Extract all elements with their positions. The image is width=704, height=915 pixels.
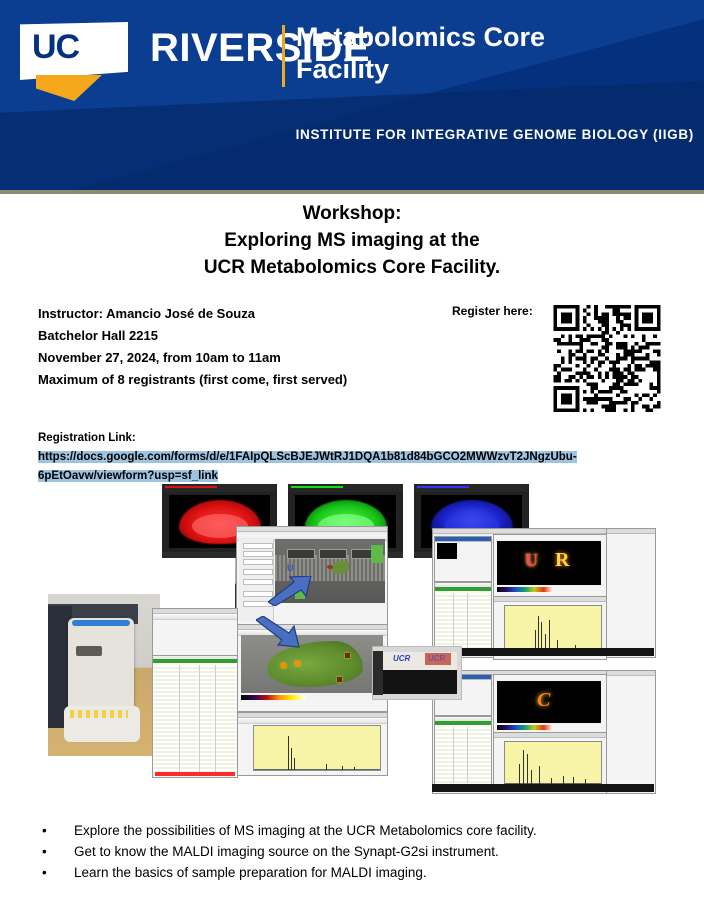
- registration-link-url[interactable]: https://docs.google.com/forms/d/e/1FAIpQ…: [38, 451, 577, 482]
- file-list-panel-top: [434, 536, 492, 582]
- list-item: • Learn the basics of sample preparation…: [36, 862, 676, 883]
- leaf-spectrum-window: [236, 712, 388, 776]
- bullet-text: Explore the possibilities of MS imaging …: [74, 820, 537, 841]
- location-line: Batchelor Hall 2215: [38, 325, 347, 347]
- taskbar-bottom: [432, 784, 654, 792]
- tool-panel-bottom: [606, 670, 656, 794]
- core-facility-name: Metabolomics Core Facility: [296, 21, 626, 85]
- datetime-line: November 27, 2024, from 10am to 11am: [38, 347, 347, 369]
- ucr-sample-plate-photo: UCR UCR: [372, 646, 462, 700]
- project-browser-window: [152, 608, 238, 656]
- header-divider: [282, 25, 285, 87]
- workshop-details: Instructor: Amancio José de Souza Batche…: [38, 303, 347, 391]
- qr-code-svg: [551, 305, 663, 412]
- peak-list-table-top: [434, 582, 492, 654]
- instructor-line: Instructor: Amancio José de Souza: [38, 303, 347, 325]
- uc-logo: UC: [20, 22, 140, 100]
- list-item: • Get to know the MALDI imaging source o…: [36, 841, 676, 862]
- arrow-down-right: [256, 616, 300, 648]
- ion-image-u-r-window: U R: [493, 534, 607, 598]
- maldi-plate-camera-window: U: [236, 526, 388, 626]
- bullet-marker-icon: •: [36, 841, 74, 862]
- title-line-2: Exploring MS imaging at the: [0, 227, 704, 254]
- tool-panel-top: [606, 528, 656, 658]
- arrow-up-right: [268, 576, 312, 606]
- bullet-text: Learn the basics of sample preparation f…: [74, 862, 427, 883]
- ion-image-c-window: C: [493, 674, 607, 734]
- ucr-plate-matrix-patch: UCR: [425, 653, 451, 665]
- capacity-line: Maximum of 8 registrants (first come, fi…: [38, 369, 347, 391]
- header-underline: [0, 190, 704, 194]
- page-title: Workshop: Exploring MS imaging at the UC…: [0, 200, 704, 281]
- ucr-plate-label: UCR: [393, 654, 410, 663]
- page-header: UC RIVERSIDE Metabolomics Core Facility …: [0, 0, 704, 190]
- bullet-marker-icon: •: [36, 820, 74, 841]
- registration-link-label: Registration Link:: [38, 432, 136, 444]
- uc-logo-text: UC: [32, 30, 79, 64]
- maldi-instrument-photo: [48, 594, 160, 756]
- taskbar-top: [432, 648, 654, 656]
- title-line-3: UCR Metabolomics Core Facility.: [0, 254, 704, 281]
- bullet-text: Get to know the MALDI imaging source on …: [74, 841, 499, 862]
- uc-logo-ribbon: [36, 75, 102, 101]
- peak-list-table-bottom: [434, 716, 492, 788]
- peak-list-table-window-left: [152, 654, 238, 778]
- image-collage: U: [0, 484, 704, 794]
- institute-line: INSTITUTE FOR INTEGRATIVE GENOME BIOLOGY…: [94, 126, 694, 144]
- register-here-label: Register here:: [452, 304, 533, 318]
- bullet-list: • Explore the possibilities of MS imagin…: [36, 820, 676, 883]
- title-line-1: Workshop:: [0, 200, 704, 227]
- list-item: • Explore the possibilities of MS imagin…: [36, 820, 676, 841]
- ms-spectrum-window-bottom: [493, 732, 607, 792]
- qr-code[interactable]: [551, 305, 663, 412]
- registration-link-block: Registration Link: https://docs.google.c…: [38, 429, 638, 486]
- bullet-marker-icon: •: [36, 862, 74, 883]
